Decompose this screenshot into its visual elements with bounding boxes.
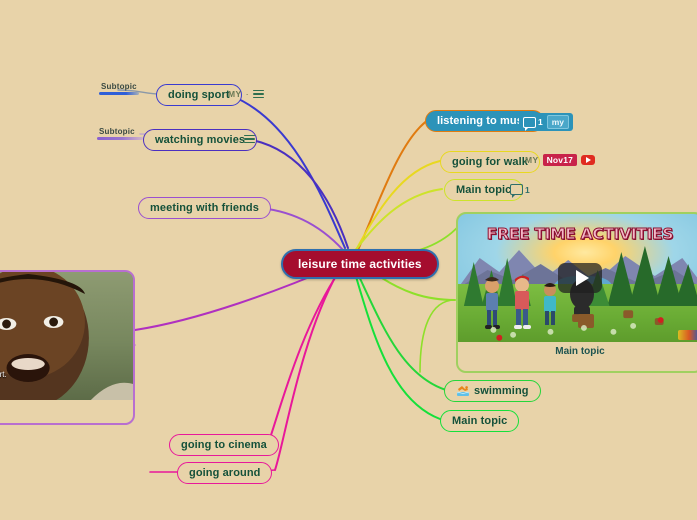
node-going-to-cinema[interactable]: going to cinema xyxy=(169,434,279,456)
node-going-for-walk-adornments[interactable]: MY Nov17 xyxy=(525,154,595,166)
node-doing-sport-label: doing sport xyxy=(168,89,230,101)
node-going-around-label: going around xyxy=(189,467,260,479)
date-badge[interactable]: Nov17 xyxy=(543,154,578,166)
node-meeting-with-friends-label: meeting with friends xyxy=(150,202,259,214)
subtopic-1-underline xyxy=(99,92,139,95)
sidebar-item-subtopic-1[interactable]: Subtopic xyxy=(99,82,139,95)
node-going-for-walk-label: going for walk xyxy=(452,156,528,168)
comment-icon xyxy=(510,184,523,195)
node-main-topic-1-adornments[interactable]: 1 xyxy=(510,184,530,195)
node-swimming[interactable]: swimming xyxy=(444,380,541,402)
node-going-around[interactable]: going around xyxy=(177,462,272,484)
swimming-icon xyxy=(456,385,470,397)
node-watching-movies-label: watching movies xyxy=(155,134,245,146)
node-going-to-cinema-label: going to cinema xyxy=(181,439,267,451)
video-title: FREE TIME ACTIVITIES xyxy=(458,225,697,243)
my-tag: MY xyxy=(228,89,242,99)
hamburger-note-icon[interactable] xyxy=(253,88,264,100)
node-listening-to-music-adornments[interactable]: 1 my xyxy=(519,113,573,131)
video-card-free-time-activities[interactable]: FREE TIME ACTIVITIES Main topic xyxy=(456,212,697,373)
subtopic-2-underline xyxy=(97,137,143,140)
video-thumbnail[interactable]: Editor ...arning a new sport. ...of rugb… xyxy=(0,272,133,400)
comment-count: 1 xyxy=(525,185,530,195)
central-node[interactable]: leisure time activities xyxy=(281,249,439,279)
comment-badge[interactable]: 1 xyxy=(523,117,543,128)
play-icon[interactable] xyxy=(558,263,602,293)
thumb-details xyxy=(458,302,697,342)
hamburger-note-icon[interactable] xyxy=(244,133,255,145)
video-subtitle-line-1: ...arning a new sport. xyxy=(0,370,7,379)
video-card-interview[interactable]: Editor ...arning a new sport. ...of rugb… xyxy=(0,270,135,425)
sidebar-item-subtopic-2[interactable]: Subtopic xyxy=(97,127,143,140)
node-watching-movies[interactable]: watching movies xyxy=(143,129,257,151)
node-meeting-with-friends[interactable]: meeting with friends xyxy=(138,197,271,219)
node-swimming-label: swimming xyxy=(474,385,529,397)
comment-badge[interactable]: 1 xyxy=(510,184,530,195)
my-tag: MY xyxy=(525,155,539,165)
central-node-label: leisure time activities xyxy=(298,257,422,271)
node-watching-movies-adornments[interactable] xyxy=(244,133,255,145)
node-main-topic-1-label: Main topic xyxy=(456,184,511,196)
tag-chip[interactable]: my xyxy=(547,115,569,129)
node-main-topic-2-label: Main topic xyxy=(452,415,507,427)
subtopic-2-label: Subtopic xyxy=(97,127,143,136)
separator-dot: · xyxy=(246,89,249,99)
thumb-person xyxy=(0,272,133,400)
video-card-caption: ...topic xyxy=(0,400,133,418)
node-main-topic-2[interactable]: Main topic xyxy=(440,410,519,432)
video-thumbnail[interactable]: FREE TIME ACTIVITIES xyxy=(458,214,697,342)
youtube-icon[interactable] xyxy=(581,155,595,165)
mindmap-canvas[interactable]: Subtopic Subtopic doing sport MY · watch… xyxy=(0,0,697,520)
subtopic-1-label: Subtopic xyxy=(99,82,139,91)
comment-icon xyxy=(523,117,536,128)
video-card-caption: Main topic xyxy=(458,342,697,360)
comment-count: 1 xyxy=(538,117,543,127)
node-doing-sport-adornments[interactable]: MY · xyxy=(228,88,264,100)
thumb-watermark xyxy=(678,330,697,340)
